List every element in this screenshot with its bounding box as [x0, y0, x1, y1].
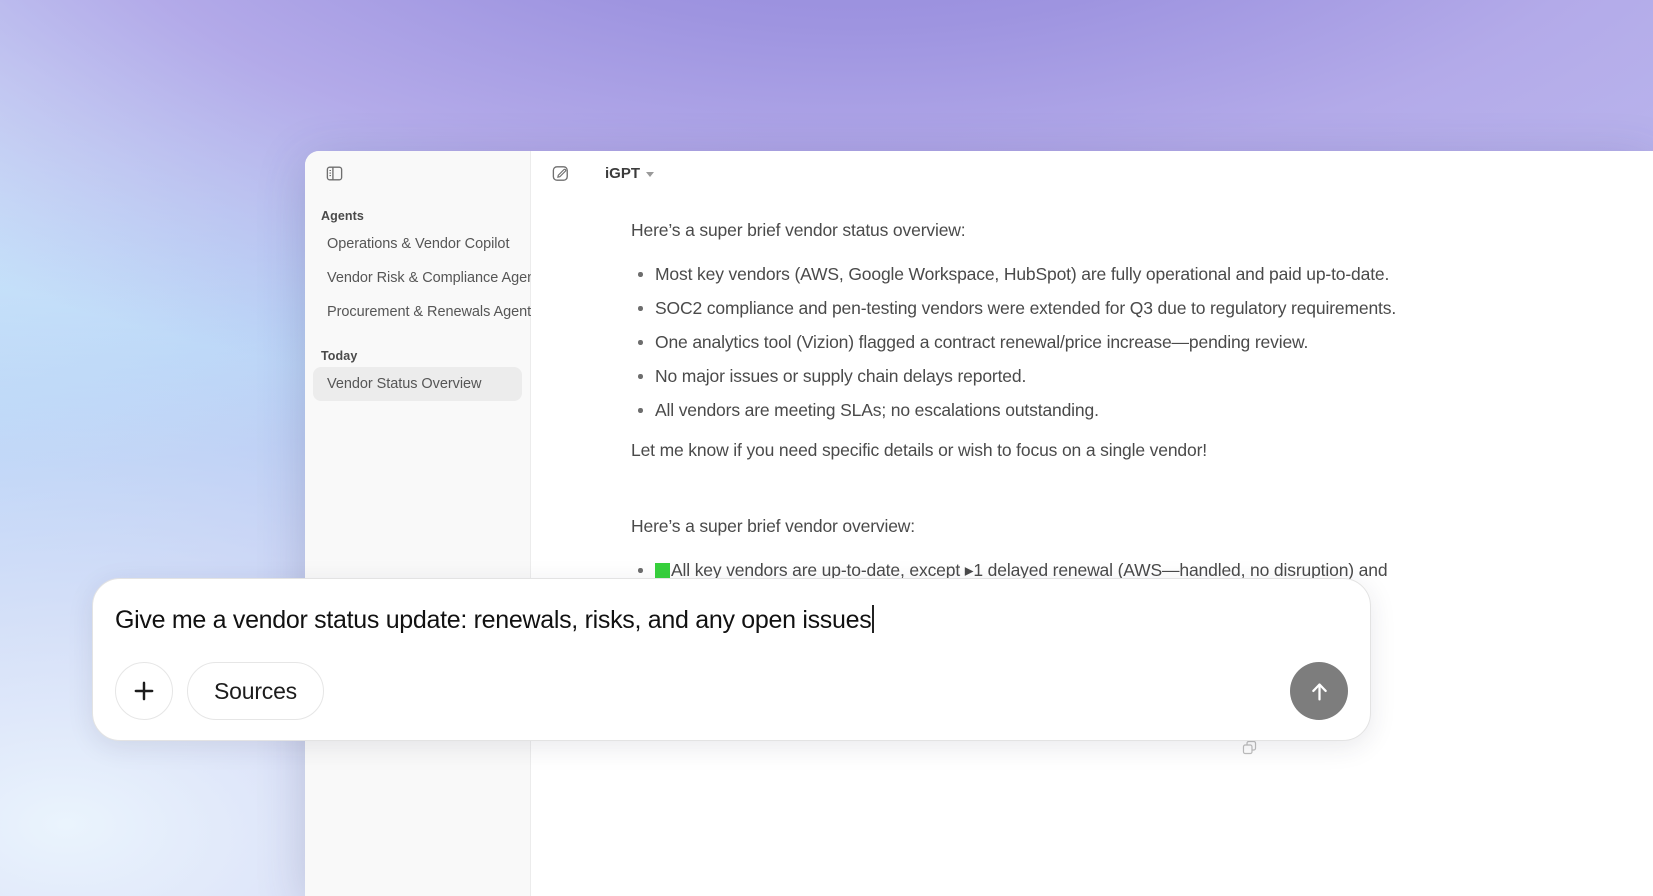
sources-button-label: Sources — [214, 678, 297, 705]
sidebar-item-vendor-status-overview[interactable]: Vendor Status Overview — [313, 367, 522, 401]
sidebar-section-label-agents: Agents — [305, 195, 530, 227]
assistant-message-2: Here’s a super brief vendor overview: Al… — [631, 509, 1613, 587]
list-item: SOC2 compliance and pen-testing vendors … — [631, 291, 1613, 325]
model-name-label: iGPT — [605, 165, 640, 182]
sidebar-panel-icon[interactable] — [319, 158, 349, 188]
composer-actions: Sources — [115, 662, 324, 720]
green-square-icon — [655, 563, 670, 578]
assistant-message-1: Here’s a super brief vendor status overv… — [631, 213, 1613, 467]
message-1-intro: Here’s a super brief vendor status overv… — [631, 213, 1613, 247]
chevron-down-icon — [646, 172, 654, 177]
list-item: No major issues or supply chain delays r… — [631, 359, 1613, 393]
sidebar-section-label-today: Today — [305, 329, 530, 367]
desktop-background: Agents Operations & Vendor Copilot Vendo… — [0, 0, 1653, 896]
sidebar-header — [305, 151, 530, 195]
list-item: All vendors are meeting SLAs; no escalat… — [631, 393, 1613, 427]
composer-input[interactable]: Give me a vendor status update: renewals… — [115, 605, 1300, 635]
conversation-thread: Here’s a super brief vendor status overv… — [531, 195, 1653, 896]
main-pane: iGPT Here’s a super brief vendor status … — [531, 151, 1653, 896]
message-2-intro: Here’s a super brief vendor overview: — [631, 509, 1613, 543]
message-1-outro: Let me know if you need specific details… — [631, 433, 1613, 467]
sidebar: Agents Operations & Vendor Copilot Vendo… — [305, 151, 531, 896]
sidebar-item-procurement-renewals-agent[interactable]: Procurement & Renewals Agent — [313, 295, 522, 329]
composer-input-value: Give me a vendor status update: renewals… — [115, 606, 871, 634]
list-item: Most key vendors (AWS, Google Workspace,… — [631, 257, 1613, 291]
add-attachment-button[interactable] — [115, 662, 173, 720]
send-button[interactable] — [1290, 662, 1348, 720]
message-1-bullet-list: Most key vendors (AWS, Google Workspace,… — [631, 257, 1613, 427]
main-topbar: iGPT — [531, 151, 1653, 195]
sources-button[interactable]: Sources — [187, 662, 324, 720]
composer: Give me a vendor status update: renewals… — [92, 578, 1371, 741]
message-2-bullet-one-text: All key vendors are up-to-date, except ▸… — [671, 560, 1387, 580]
model-picker[interactable]: iGPT — [597, 161, 662, 186]
list-item: One analytics tool (Vizion) flagged a co… — [631, 325, 1613, 359]
copy-icon[interactable] — [1241, 739, 1258, 761]
compose-pencil-icon[interactable] — [545, 158, 575, 188]
chat-app-window: Agents Operations & Vendor Copilot Vendo… — [305, 151, 1653, 896]
sidebar-item-operations-vendor-copilot[interactable]: Operations & Vendor Copilot — [313, 227, 522, 261]
text-caret — [872, 605, 874, 633]
sidebar-item-vendor-risk-compliance-agent[interactable]: Vendor Risk & Compliance Agent — [313, 261, 522, 295]
message-gap — [631, 467, 1613, 509]
